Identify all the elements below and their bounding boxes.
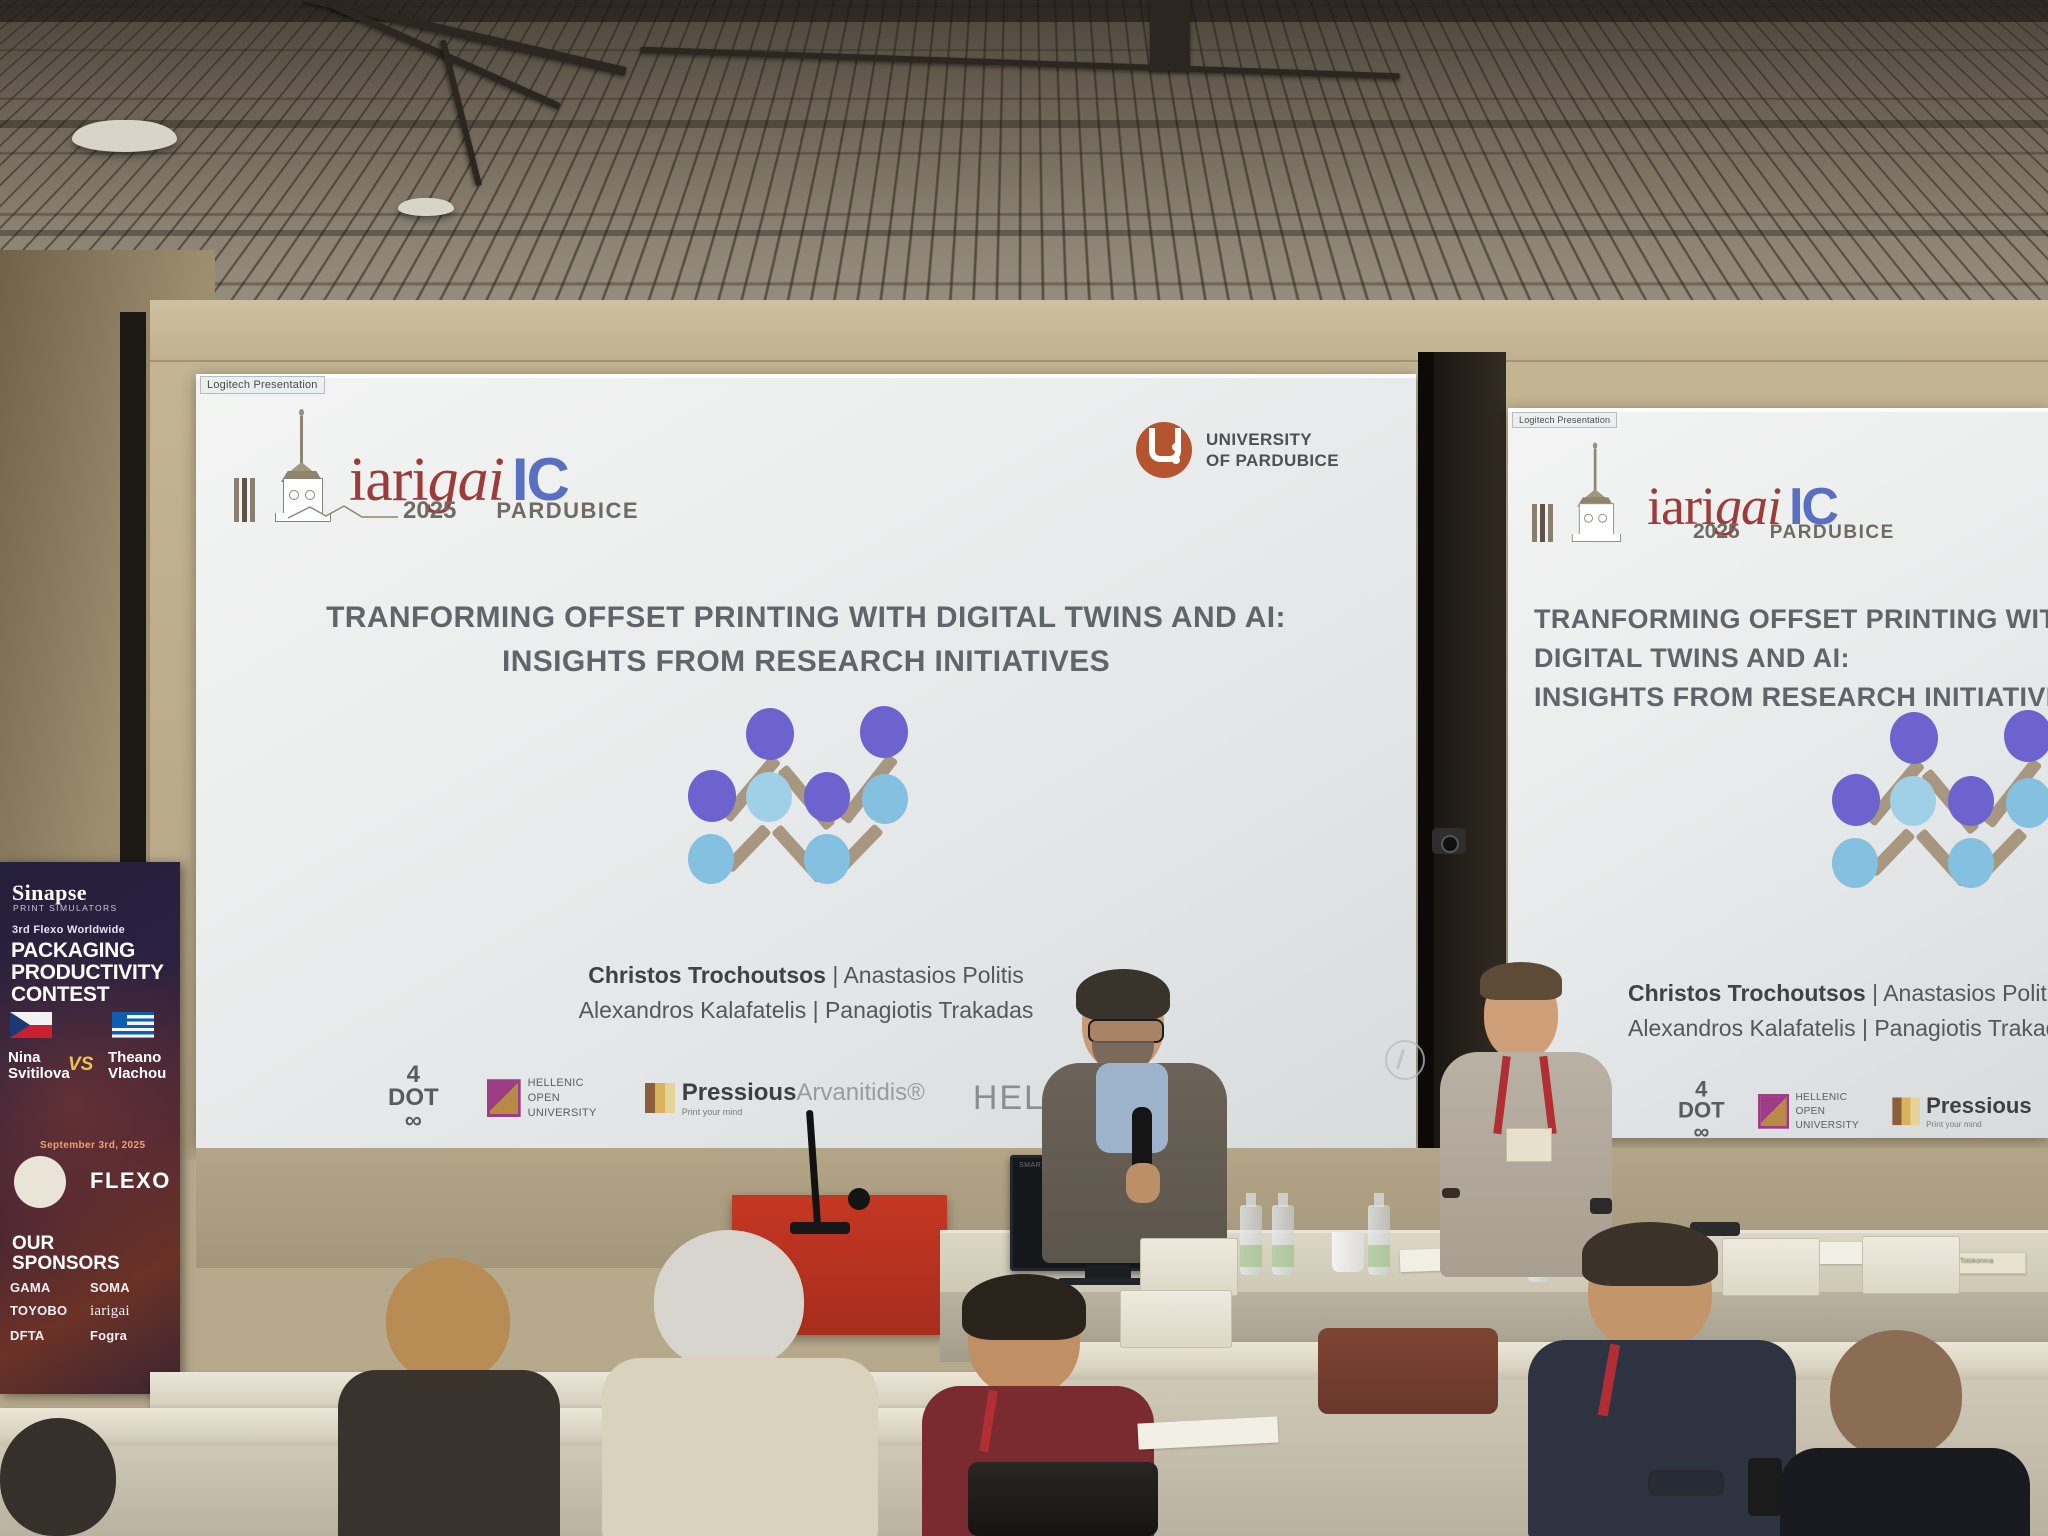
audience-member <box>0 1418 140 1536</box>
sponsor-pressious-tagline: Print your mind <box>682 1107 925 1117</box>
audience-hair <box>962 1274 1086 1340</box>
projector-osd-main: Logitech Presentation <box>200 376 325 394</box>
network-node-graphic <box>664 704 964 904</box>
sponsor-4dot-line3: ∞ <box>1678 1122 1725 1138</box>
drinking-cup <box>1332 1232 1364 1272</box>
banner-competitor-left-2: Svitilova <box>8 1066 70 1082</box>
audience-body <box>338 1370 560 1536</box>
audience-coat <box>1318 1328 1498 1414</box>
audience-member <box>630 1230 850 1536</box>
chair-bracelet <box>1442 1188 1460 1198</box>
slide-title: TRANFORMING OFFSET PRINTING WITH DIGITAL… <box>256 596 1356 683</box>
water-bottle <box>1240 1205 1262 1275</box>
sponsor-pressious-line1: Pressious <box>1926 1094 2032 1119</box>
audience-head <box>386 1258 510 1382</box>
chair-badge <box>1506 1128 1552 1162</box>
chair-hair <box>1480 962 1562 1000</box>
ceiling-beam <box>1150 0 1190 70</box>
projector-osd-secondary: Logitech Presentation <box>1512 412 1617 428</box>
banner-date: September 3rd, 2025 <box>40 1140 145 1151</box>
network-node <box>746 708 794 760</box>
logo-city: PARDUBICE <box>1770 524 1895 541</box>
pardubice-tower-icon <box>1563 450 1628 542</box>
audience-member <box>358 1258 538 1536</box>
slide-title-line2: INSIGHTS FROM RESEARCH INITIATIVES <box>256 640 1356 684</box>
ceiling-light <box>72 120 177 152</box>
network-node <box>2006 778 2048 828</box>
network-node <box>804 834 850 884</box>
sponsor-4dot-line3: ∞ <box>388 1110 439 1133</box>
audience-member <box>1790 1330 2020 1536</box>
banner-competitor-left-1: Nina <box>8 1050 70 1066</box>
slide-title-line1: TRANFORMING OFFSET PRINTING WITH DIGITAL… <box>1534 600 2048 678</box>
network-node <box>688 834 734 884</box>
university-u-icon <box>1136 422 1192 478</box>
presenter-hair <box>1076 969 1170 1021</box>
ceiling-light <box>398 198 454 216</box>
banner-headline-3: CONTEST <box>11 984 164 1006</box>
authors-line1-rest: | Anastasios Politis <box>826 962 1024 988</box>
banner-sponsors-heading-1: OUR <box>12 1234 120 1254</box>
audience-sunglasses <box>1648 1470 1724 1496</box>
sponsor-pressious-line1: Pressious <box>682 1079 797 1106</box>
audience-bag <box>968 1462 1158 1536</box>
hou-book-icon <box>1758 1094 1789 1129</box>
microphone-head-icon <box>848 1188 870 1210</box>
czech-flag-icon <box>10 1012 52 1038</box>
network-node <box>860 706 908 758</box>
banner-headline-2: PRODUCTIVITY <box>11 962 164 984</box>
university-name: UNIVERSITY OF PARDUBICE <box>1206 429 1339 472</box>
university-line1: UNIVERSITY <box>1206 429 1339 450</box>
logo-year: 2025 <box>1693 523 1740 542</box>
banner-contest-badge-icon <box>14 1156 66 1208</box>
network-node <box>746 772 792 822</box>
iarigai-logo: iari gai IC 2025 PARDUBICE <box>234 418 639 522</box>
authors-line-2: Alexandros Kalafatelis | Panagiotis Trak… <box>1628 1011 2048 1046</box>
banner-sponsor: iarigai <box>90 1303 158 1320</box>
annotation-pen-icon <box>1385 1040 1425 1080</box>
author-presenter: Christos Trochoutsos <box>588 962 826 988</box>
sponsor-hou-line1: HELLENIC <box>528 1076 597 1091</box>
greek-flag-icon <box>112 1012 154 1038</box>
banner-competitor-right-2: Vlachou <box>108 1066 166 1082</box>
slide-authors-secondary: Christos Trochoutsos | Anastasios Politi… <box>1628 976 2048 1045</box>
logo-bars-icon <box>1532 504 1553 542</box>
authors-line1-rest: | Anastasios Politis <box>1866 980 2048 1006</box>
banner-sponsor-grid: GAMA SOMA TOYOBO iarigai DFTA Fogra <box>10 1280 170 1343</box>
logo-bars-icon <box>234 478 255 522</box>
network-node <box>1890 712 1938 764</box>
network-node <box>804 772 850 822</box>
banner-sponsors-heading-2: SPONSORS <box>12 1254 120 1274</box>
logo-city: PARDUBICE <box>496 501 639 521</box>
sponsor-hellenic-open-university: HELLENIC OPEN UNIVERSITY <box>487 1076 597 1121</box>
network-node <box>2004 710 2048 762</box>
banner-sponsor: Fogra <box>90 1328 158 1343</box>
pressious-mark-icon <box>1892 1098 1920 1126</box>
hills-icon <box>288 504 398 520</box>
sponsor-4dot: 4 DOT ∞ <box>388 1064 439 1132</box>
water-bottle <box>1368 1205 1390 1275</box>
sponsor-pressious-tagline: Print your mind <box>1926 1120 2032 1129</box>
slide-sponsor-strip-secondary: 4 DOT ∞ HELLENIC OPEN UNIVERSITY <box>1678 1080 2032 1138</box>
sponsor-hellenic-open-university: HELLENIC OPEN UNIVERSITY <box>1758 1091 1859 1132</box>
lecture-hall-photo: iari gai IC 2025 PARDUBICE UNIVERSITY <box>0 0 2048 1536</box>
presenter <box>1040 975 1240 1275</box>
sponsor-4dot: 4 DOT ∞ <box>1678 1080 1725 1138</box>
audience-body <box>602 1358 878 1536</box>
sponsor-hou-line3: UNIVERSITY <box>528 1106 597 1121</box>
water-bottle <box>1272 1205 1294 1275</box>
audience-head <box>654 1230 804 1370</box>
audience-head <box>1830 1330 1962 1458</box>
banner-vs: VS <box>68 1054 93 1076</box>
university-line2: OF PARDUBICE <box>1206 450 1339 471</box>
network-node <box>1948 838 1994 888</box>
sponsor-pressious-arvanitidis: Pressious Print your mind <box>1892 1094 2032 1129</box>
audience-phone <box>1748 1458 1782 1516</box>
audience-head <box>0 1418 116 1536</box>
sponsor-hou-line3: UNIVERSITY <box>1795 1118 1858 1132</box>
logo-year: 2025 <box>403 500 456 522</box>
banner-sponsor: DFTA <box>10 1328 78 1343</box>
audience-seat <box>1862 1236 1960 1294</box>
chair-watch <box>1590 1198 1612 1214</box>
network-node <box>1832 774 1880 826</box>
banner-competitor-right-1: Theano <box>108 1050 166 1066</box>
authors-line-1: Christos Trochoutsos | Anastasios Politi… <box>1628 976 2048 1011</box>
presenter-glasses <box>1088 1019 1164 1043</box>
network-node <box>1832 838 1878 888</box>
sponsor-pressious-arvanitidis: PressiousArvanitidis® Print your mind <box>645 1079 925 1117</box>
banner-sponsor: TOYOBO <box>10 1303 78 1320</box>
author-presenter: Christos Trochoutsos <box>1628 980 1866 1006</box>
sponsor-hou-line1: HELLENIC <box>1795 1091 1858 1105</box>
pressious-mark-icon <box>645 1083 675 1113</box>
network-node <box>862 774 908 824</box>
banner-flexo: FLEXO <box>90 1168 171 1194</box>
wall-trim <box>150 300 2048 362</box>
banner-brand-sub: PRINT SIMULATORS <box>13 903 118 913</box>
audience-seat <box>1140 1238 1238 1296</box>
banner-edition: 3rd Flexo Worldwide <box>12 924 125 936</box>
presenter-hand <box>1126 1163 1160 1203</box>
network-node <box>1890 776 1936 826</box>
audience-hair <box>1582 1222 1718 1286</box>
iarigai-wordmark-secondary: iari gai IC 2025 PARDUBICE <box>1647 482 1895 542</box>
network-node-graphic-secondary <box>1808 708 2048 908</box>
network-node <box>688 770 736 822</box>
sponsor-pressious-line2: Arvanitidis® <box>796 1079 924 1106</box>
network-node <box>1948 776 1994 826</box>
slide-title-line1: TRANFORMING OFFSET PRINTING WITH DIGITAL… <box>256 596 1356 640</box>
iarigai-logo-secondary: iari gai IC 2025 PARDUBICE <box>1532 438 1895 542</box>
sponsor-hou-line2: OPEN <box>528 1091 597 1106</box>
rollup-banner: Sinapse PRINT SIMULATORS 3rd Flexo World… <box>0 862 180 1394</box>
hou-book-icon <box>487 1079 521 1117</box>
ceiling <box>0 0 2048 330</box>
audience-body <box>1780 1448 2030 1536</box>
university-logo: UNIVERSITY OF PARDUBICE <box>1136 422 1339 478</box>
sponsor-helmed-line1: HEL <box>973 1079 1045 1118</box>
ceiling-camera <box>1432 828 1466 854</box>
sponsor-hou-line2: OPEN <box>1795 1105 1858 1119</box>
banner-sponsor: SOMA <box>90 1280 158 1295</box>
banner-sponsor: GAMA <box>10 1280 78 1295</box>
banner-headline-1: PACKAGING <box>11 940 164 962</box>
slide-title-secondary: TRANFORMING OFFSET PRINTING WITH DIGITAL… <box>1534 600 2048 717</box>
